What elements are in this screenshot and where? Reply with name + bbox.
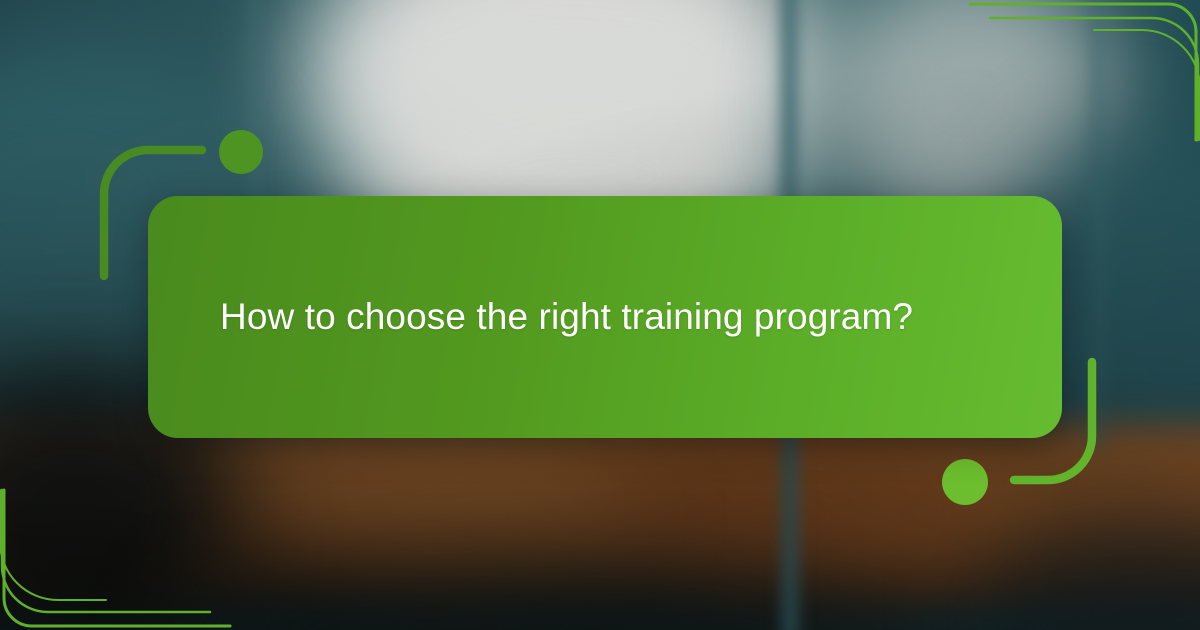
bottom-right-dot-icon <box>942 459 988 505</box>
bottom-left-corner-lines-svg <box>0 490 230 630</box>
promo-card-canvas: How to choose the right training program… <box>0 0 1200 630</box>
top-right-corner-lines-svg <box>970 0 1200 140</box>
top-right-corner-lines <box>970 0 1200 140</box>
headline-title: How to choose the right training program… <box>148 294 973 340</box>
headline-card[interactable]: How to choose the right training program… <box>148 196 1062 438</box>
top-left-dot-icon <box>219 130 263 174</box>
bottom-left-corner-lines <box>0 490 230 630</box>
